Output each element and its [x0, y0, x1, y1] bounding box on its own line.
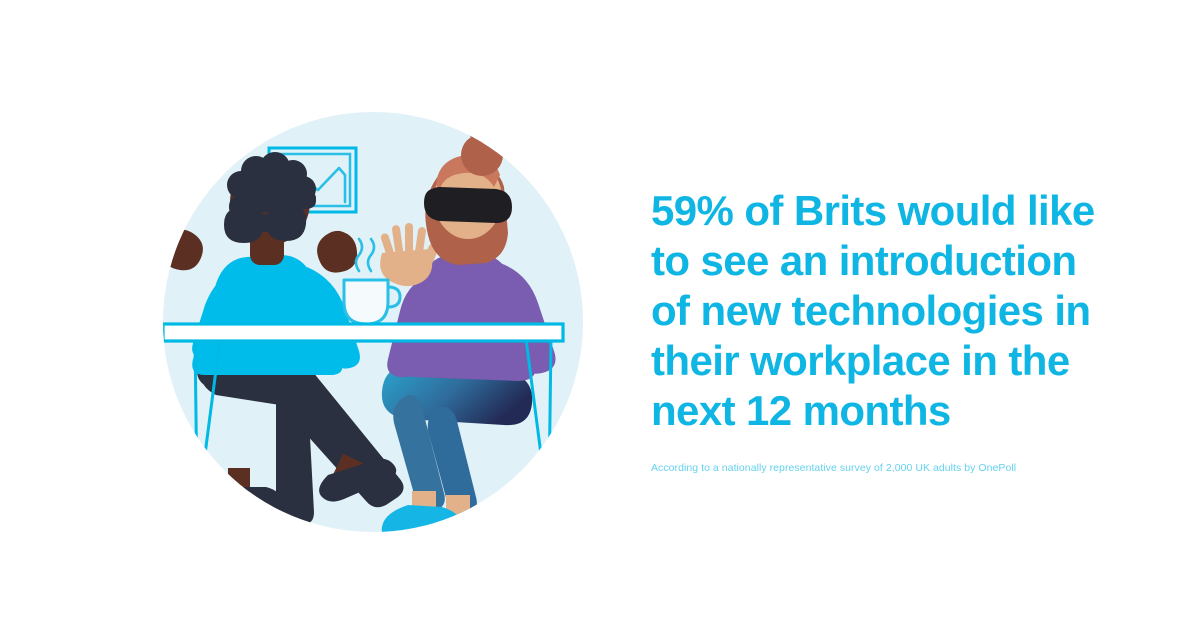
table-leg-far-right — [549, 339, 551, 493]
person-left-shoe-near — [206, 487, 282, 513]
survey-attribution: According to a nationally representative… — [651, 436, 1101, 475]
person-left-ankle-near — [228, 468, 250, 496]
illustration-vr-meeting — [140, 75, 610, 555]
infographic-card: 59% of Brits would like to see an introd… — [0, 0, 1200, 630]
person-right-hair-bun-lower — [461, 134, 503, 176]
table-top — [163, 324, 563, 341]
table-leg-far-left — [195, 339, 197, 493]
person-right-hair-bun-upper — [465, 103, 505, 143]
copy-block: 59% of Brits would like to see an introd… — [651, 186, 1101, 475]
person-right-vr-headset-icon — [424, 187, 512, 223]
page-title: 59% of Brits would like to see an introd… — [651, 186, 1101, 436]
illustration-svg — [140, 75, 610, 555]
